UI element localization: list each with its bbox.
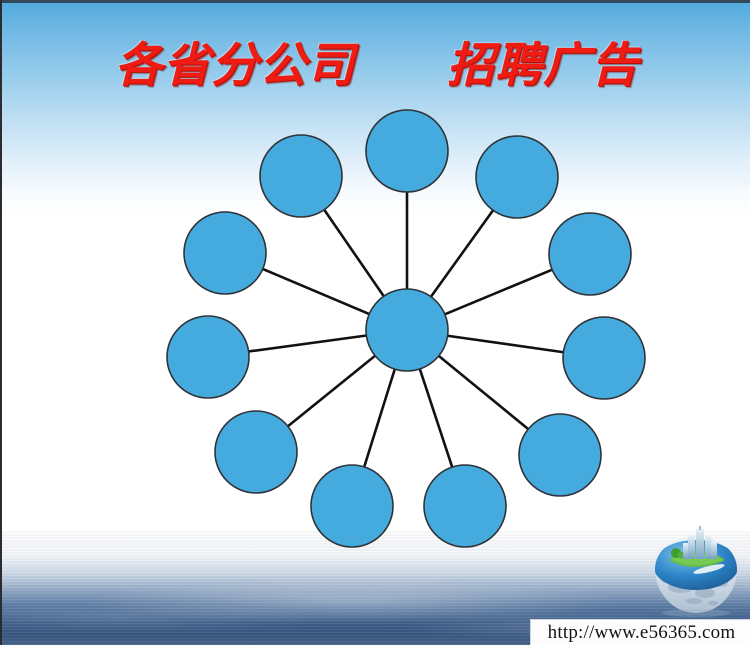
node-3[interactable]	[184, 212, 266, 294]
nodes-group	[167, 110, 645, 547]
spoke-to-node-3	[261, 268, 371, 315]
spoke-to-node-10	[443, 269, 554, 315]
node-8[interactable]	[519, 414, 601, 496]
slide-title: 各省分公司 招聘广告	[2, 26, 750, 95]
spoke-to-node-2	[323, 208, 385, 298]
watermark-box: http://www.e56365.com	[530, 619, 750, 645]
slide-canvas: 各省分公司 招聘广告	[0, 0, 750, 645]
node-5[interactable]	[215, 411, 297, 493]
spoke-to-node-7	[419, 367, 453, 469]
hub-node[interactable]	[366, 289, 448, 371]
node-4[interactable]	[167, 316, 249, 398]
node-10[interactable]	[549, 213, 631, 295]
watermark-url: http://www.e56365.com	[548, 622, 736, 644]
hub-and-spoke-diagram	[2, 0, 750, 645]
diagram-canvas	[2, 0, 750, 645]
node-6[interactable]	[311, 465, 393, 547]
title-right-text: 招聘广告	[447, 26, 639, 95]
node-7[interactable]	[424, 465, 506, 547]
spoke-to-node-8	[437, 355, 530, 431]
spoke-to-node-11	[430, 209, 494, 299]
spoke-to-node-5	[286, 355, 376, 428]
node-11[interactable]	[476, 136, 558, 218]
node-9[interactable]	[563, 317, 645, 399]
spoke-to-node-4	[247, 335, 369, 352]
node-1[interactable]	[366, 110, 448, 192]
spoke-to-node-6	[364, 367, 396, 469]
node-2[interactable]	[260, 135, 342, 217]
spoke-to-node-9	[446, 335, 566, 352]
globe-city-logo	[647, 525, 745, 617]
title-left-text: 各省分公司	[115, 26, 355, 95]
